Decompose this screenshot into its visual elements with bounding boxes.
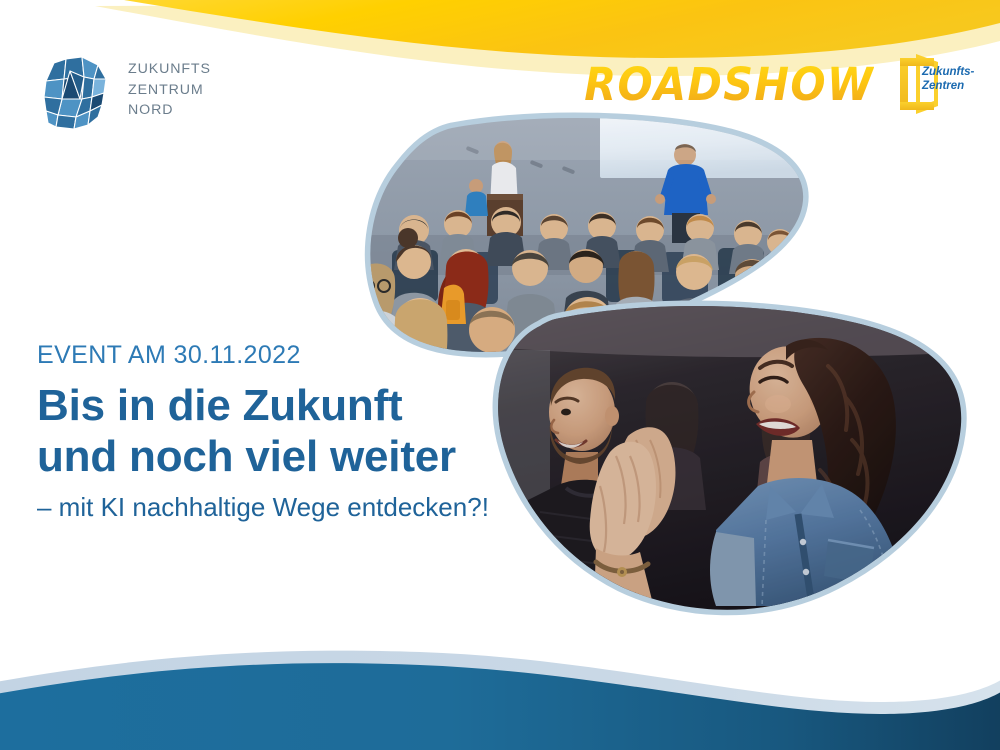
headline-line-1: Bis in die Zukunft — [37, 380, 557, 431]
event-poster: ZUKUNFTS ZENTRUM NORD ROADSHOW — [0, 0, 1000, 750]
campaign-lockup: ROADSHOW Zukunfts- — [559, 52, 982, 116]
event-subtitle: – mit KI nachhaltige Wege entdecken?! — [37, 492, 557, 523]
brand-wordmark: ZUKUNFTS ZENTRUM NORD — [128, 60, 211, 120]
headline-line-2: und noch viel weiter — [37, 431, 557, 482]
event-copy-block: EVENT AM 30.11.2022 Bis in die Zukunft u… — [37, 342, 557, 523]
page-title: Bis in die Zukunft und noch viel weiter — [37, 380, 557, 482]
zz-line-1: Zukunfts- — [922, 66, 974, 80]
zukunfts-zentren-text: Zukunfts- Zentren — [922, 66, 974, 93]
brand-line-2: ZENTRUM — [128, 81, 211, 100]
event-date-eyebrow: EVENT AM 30.11.2022 — [37, 342, 557, 370]
brand-lockup: ZUKUNFTS ZENTRUM NORD — [36, 47, 211, 133]
zukunfts-zentren-logo: Zukunfts- Zentren — [894, 52, 982, 116]
polygonal-head-icon — [36, 47, 114, 133]
brand-line-3: NORD — [128, 101, 211, 120]
brand-line-1: ZUKUNFTS — [128, 60, 211, 79]
roadshow-wordmark: ROADSHOW — [584, 62, 874, 107]
zz-line-2: Zentren — [922, 80, 974, 94]
